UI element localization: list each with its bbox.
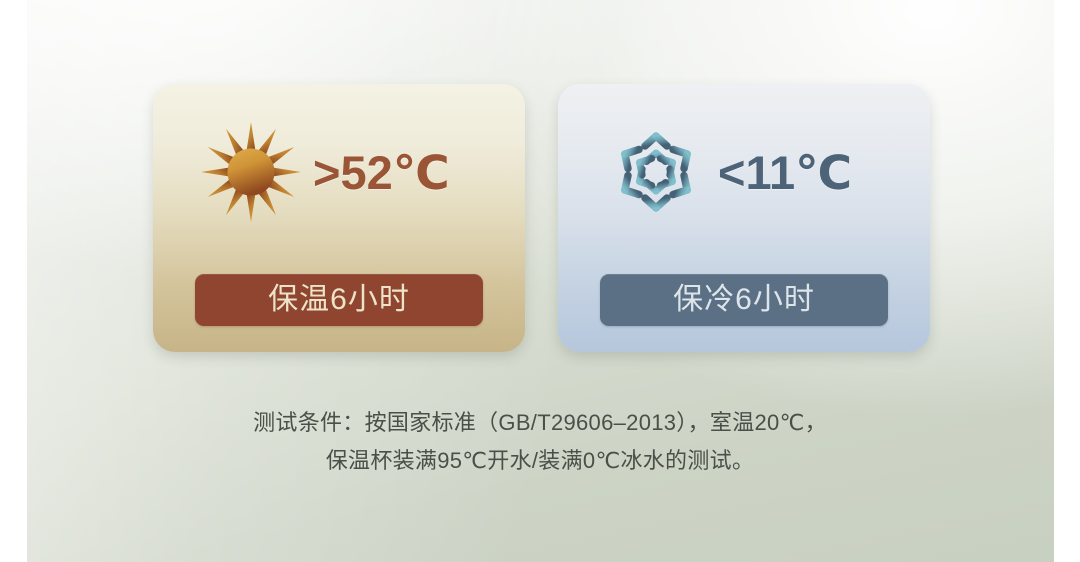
heat-duration-label: 保温6小时 xyxy=(268,285,410,315)
cold-duration-label: 保冷6小时 xyxy=(673,285,815,315)
spec-cards-row: >52℃ 保温6小时 xyxy=(153,84,930,352)
caption-line-2: 保温杯装满95℃开水/装满0℃冰水的测试。 xyxy=(0,442,1080,480)
cold-retention-card[interactable]: <11℃ 保冷6小时 xyxy=(558,84,930,352)
cold-temperature-value: <11℃ xyxy=(718,149,852,196)
heat-duration-badge[interactable]: 保温6小时 xyxy=(195,274,483,326)
caption-line-1: 测试条件：按国家标准（GB/T29606–2013），室温20℃， xyxy=(0,404,1080,442)
heat-temperature-value: >52℃ xyxy=(313,149,450,196)
cold-duration-badge[interactable]: 保冷6小时 xyxy=(600,274,888,326)
test-conditions-caption: 测试条件：按国家标准（GB/T29606–2013），室温20℃， 保温杯装满9… xyxy=(0,404,1080,480)
sun-icon xyxy=(195,116,307,228)
heat-card-header: >52℃ xyxy=(153,84,525,260)
promo-graphic: >52℃ 保温6小时 xyxy=(0,0,1080,562)
snowflake-icon xyxy=(600,116,712,228)
heat-retention-card[interactable]: >52℃ 保温6小时 xyxy=(153,84,525,352)
cold-card-header: <11℃ xyxy=(558,84,930,260)
